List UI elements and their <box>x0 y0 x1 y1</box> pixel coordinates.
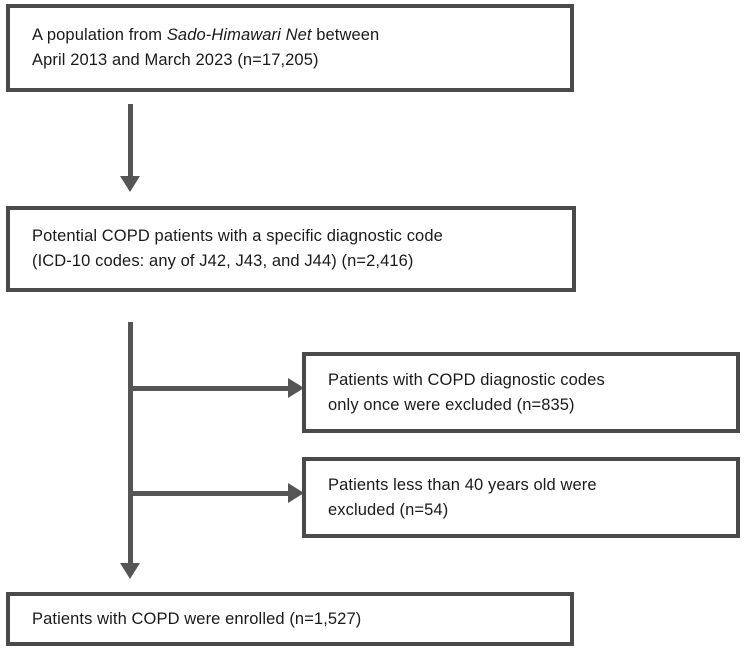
potential-line2: (ICD-10 codes: any of J42, J43, and J44)… <box>32 252 414 270</box>
arrow-down-icon <box>120 176 140 192</box>
flowchart-node-excluded-age-label: Patients less than 40 years old wereexcl… <box>306 473 607 523</box>
excluded-age-line1: Patients less than 40 years old were <box>328 476 597 494</box>
flowchart-node-population: A population from Sado-Himawari Net betw… <box>6 4 574 92</box>
population-line1-suffix: between <box>312 26 380 44</box>
arrow-down-icon <box>120 563 140 579</box>
connector-trunk-line <box>128 322 133 567</box>
flowchart-canvas: A population from Sado-Himawari Net betw… <box>0 0 750 658</box>
flowchart-node-enrolled-label: Patients with COPD were enrolled (n=1,52… <box>10 607 371 632</box>
flowchart-node-excluded-once: Patients with COPD diagnostic codesonly … <box>302 352 740 433</box>
connector-branch-excluded-once-line <box>128 386 290 391</box>
flowchart-node-population-label: A population from Sado-Himawari Net betw… <box>10 23 389 73</box>
connector-population-to-potential-line <box>128 104 133 178</box>
excluded-age-line2: excluded (n=54) <box>328 501 448 519</box>
population-line1-prefix: A population from <box>32 26 167 44</box>
excluded-once-line1: Patients with COPD diagnostic codes <box>328 371 605 389</box>
flowchart-node-excluded-once-label: Patients with COPD diagnostic codesonly … <box>306 368 615 418</box>
flowchart-node-excluded-age: Patients less than 40 years old wereexcl… <box>302 457 740 538</box>
excluded-once-line2: only once were excluded (n=835) <box>328 396 575 414</box>
flowchart-node-enrolled: Patients with COPD were enrolled (n=1,52… <box>6 592 574 646</box>
flowchart-node-potential-label: Potential COPD patients with a specific … <box>10 224 453 274</box>
potential-line1: Potential COPD patients with a specific … <box>32 227 443 245</box>
population-source-name: Sado-Himawari Net <box>167 26 312 44</box>
connector-branch-excluded-age-line <box>128 491 290 496</box>
population-line2: April 2013 and March 2023 (n=17,205) <box>32 51 319 69</box>
flowchart-node-potential: Potential COPD patients with a specific … <box>6 206 576 292</box>
